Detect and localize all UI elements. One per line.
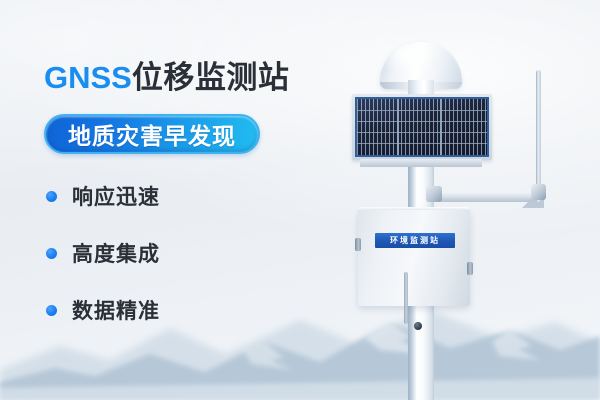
cabinet-latch-left bbox=[355, 238, 361, 251]
title-rest: 位移监测站 bbox=[132, 60, 290, 95]
bullet-dot-icon bbox=[46, 305, 57, 316]
whip-antenna-base bbox=[531, 184, 546, 200]
solar-panel bbox=[352, 94, 492, 160]
list-item: 高度集成 bbox=[46, 238, 160, 268]
feature-label: 数据精准 bbox=[72, 295, 160, 325]
product-banner: GNSS位移监测站 地质灾害早发现 响应迅速 高度集成 数据精准 bbox=[0, 0, 600, 400]
feature-label: 响应迅速 bbox=[72, 181, 160, 211]
cable-conduit bbox=[404, 272, 408, 324]
list-item: 数据精准 bbox=[46, 295, 160, 325]
solar-panel-cells bbox=[355, 97, 489, 157]
bullet-dot-icon bbox=[46, 248, 57, 259]
cabinet-label-band: 环境监测站 bbox=[375, 233, 455, 248]
bullet-dot-icon bbox=[46, 191, 57, 202]
status-badge-label: 地质灾害早发现 bbox=[68, 117, 236, 151]
pole-port-icon bbox=[414, 322, 422, 330]
page-title: GNSS位移监测站 bbox=[44, 52, 289, 97]
list-item: 响应迅速 bbox=[46, 181, 160, 211]
feature-label: 高度集成 bbox=[72, 238, 160, 268]
title-brand: GNSS bbox=[44, 60, 132, 95]
cabinet-latch-right bbox=[467, 262, 473, 275]
monitoring-station-illustration: 环境监测站 bbox=[330, 26, 585, 400]
whip-antenna bbox=[536, 70, 541, 202]
cross-arm-hub bbox=[426, 186, 442, 202]
solar-panel-mount bbox=[360, 159, 482, 167]
equipment-cabinet: 环境监测站 bbox=[358, 210, 470, 306]
status-badge: 地质灾害早发现 bbox=[44, 114, 260, 154]
cabinet-label-text: 环境监测站 bbox=[390, 235, 440, 246]
feature-list: 响应迅速 高度集成 数据精准 bbox=[46, 181, 160, 325]
